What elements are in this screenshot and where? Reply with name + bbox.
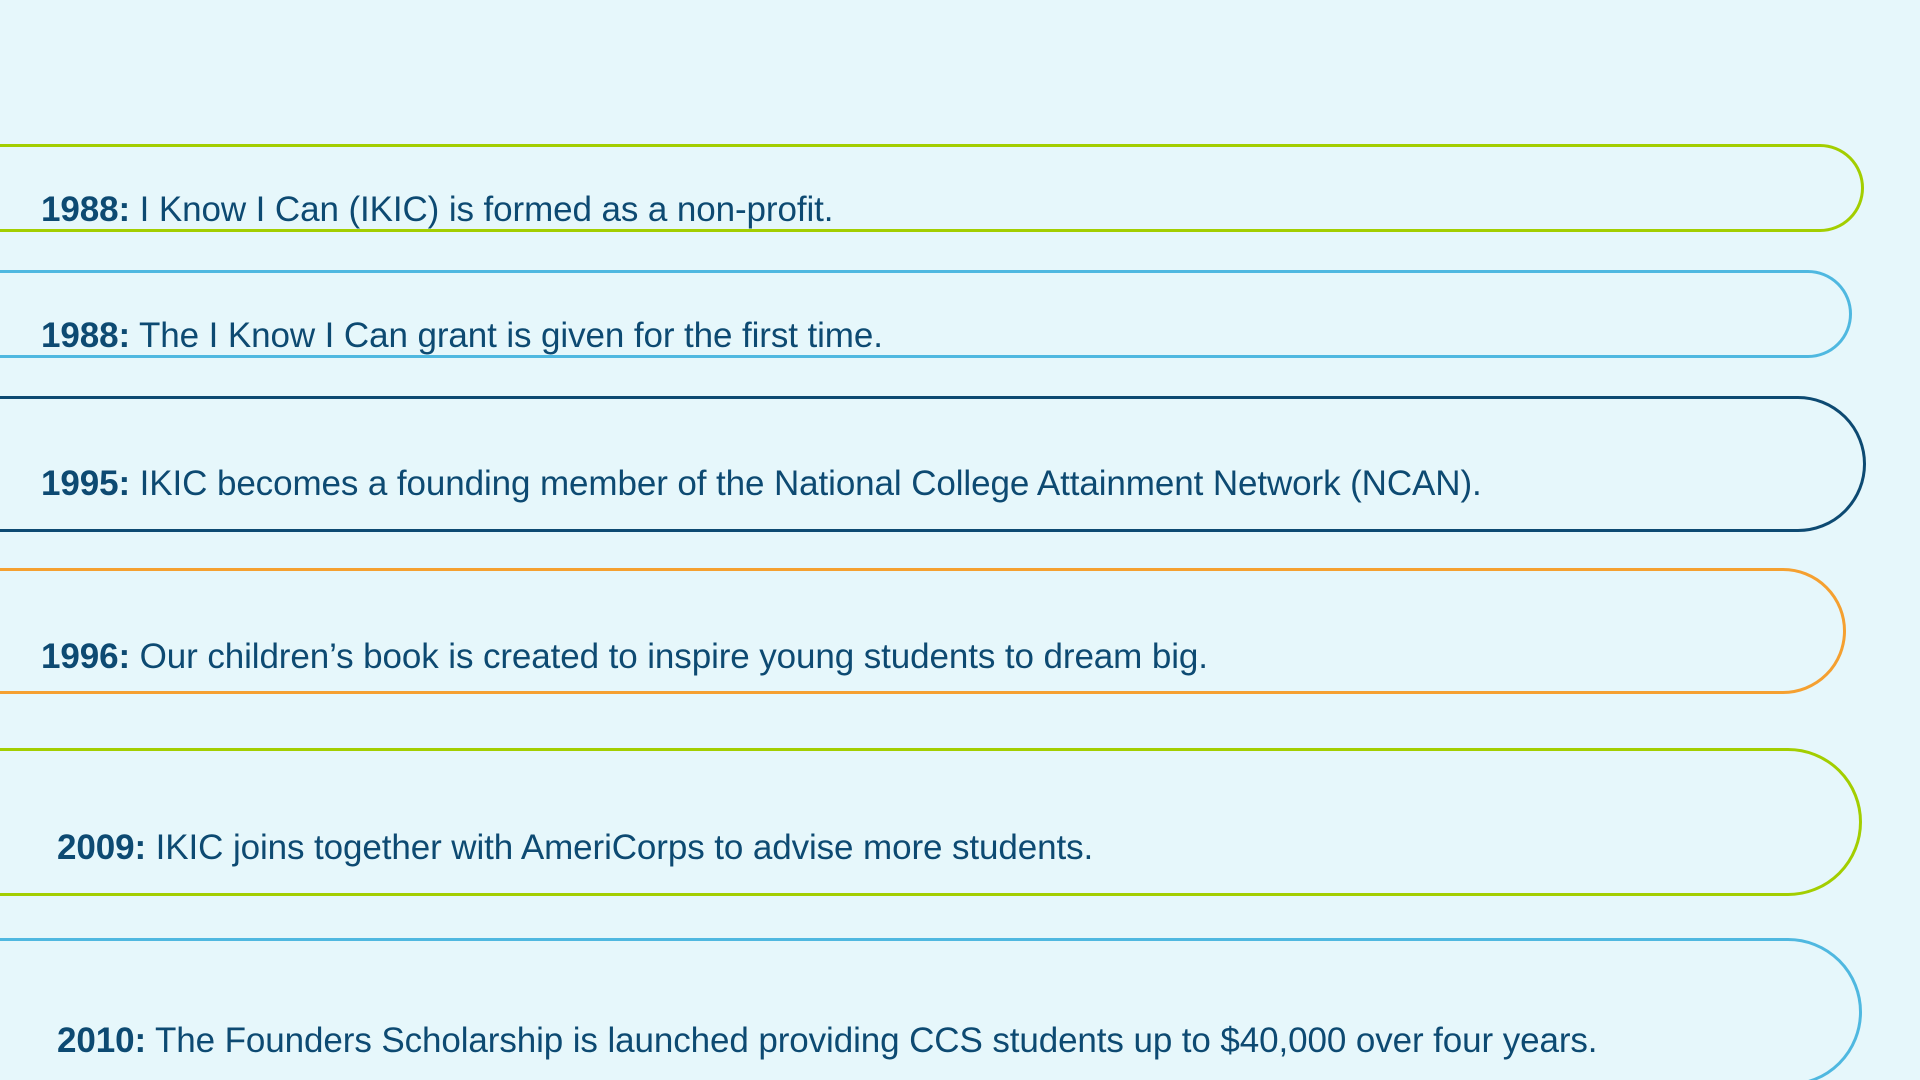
timeline-entry-year: 1995: <box>41 464 130 503</box>
timeline-entry-1996-childrens-book: 1996: Our children’s book is created to … <box>0 568 1846 694</box>
timeline-entry-year: 1988: <box>41 316 130 355</box>
timeline-entry-year: 1996: <box>41 637 130 676</box>
timeline-entry-2010-founders-scholarship: 2010: The Founders Scholarship is launch… <box>0 938 1862 1080</box>
timeline-entry-1995-ncan: 1995: IKIC becomes a founding member of … <box>0 396 1866 532</box>
timeline-entry-body: IKIC joins together with AmeriCorps to a… <box>146 828 1093 867</box>
timeline-entry-year: 2010: <box>57 1021 146 1060</box>
timeline-entry-body: IKIC becomes a founding member of the Na… <box>130 464 1482 503</box>
timeline-entry-year: 1988: <box>41 190 130 229</box>
timeline-entry-1988-grant: 1988: The I Know I Can grant is given fo… <box>0 270 1852 358</box>
timeline-entry-body: The I Know I Can grant is given for the … <box>130 316 883 355</box>
timeline-entry-text: 2009: IKIC joins together with AmeriCorp… <box>0 770 1093 874</box>
timeline-entry-body: I Know I Can (IKIC) is formed as a non-p… <box>130 190 833 229</box>
timeline-entry-text: 1988: The I Know I Can grant is given fo… <box>0 270 883 358</box>
timeline-entry-body: The Founders Scholarship is launched pro… <box>146 1021 1597 1060</box>
timeline-entry-2009-americorps: 2009: IKIC joins together with AmeriCorp… <box>0 748 1862 896</box>
timeline-entry-body: Our children’s book is created to inspir… <box>130 637 1208 676</box>
timeline-entry-1988-formed: 1988: I Know I Can (IKIC) is formed as a… <box>0 144 1864 232</box>
timeline-entry-text: 2010: The Founders Scholarship is launch… <box>0 954 1597 1070</box>
timeline-entry-text: 1996: Our children’s book is created to … <box>0 579 1208 683</box>
timeline-list: 1988: I Know I Can (IKIC) is formed as a… <box>0 0 1920 1080</box>
timeline-entry-year: 2009: <box>57 828 146 867</box>
timeline-entry-text: 1988: I Know I Can (IKIC) is formed as a… <box>0 144 833 232</box>
timeline-entry-text: 1995: IKIC becomes a founding member of … <box>0 424 1482 504</box>
